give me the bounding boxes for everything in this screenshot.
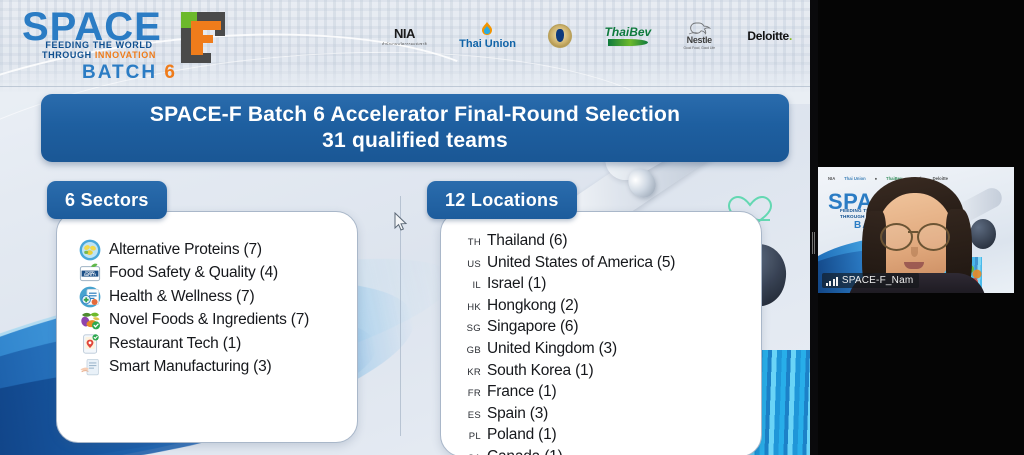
list-item-label: Food Safety & Quality (4) xyxy=(109,264,278,282)
shared-slide: SPACE FEEDING THE WORLD THROUGH INNOVATI… xyxy=(0,0,810,455)
list-item-label: Restaurant Tech (1) xyxy=(109,335,241,353)
tile-robot-gripper-graphic xyxy=(970,219,996,249)
restaurant-tech-icon xyxy=(79,333,101,355)
list-item: Health & Wellness (7) xyxy=(79,285,309,309)
list-item: Novel Foods & Ingredients (7) xyxy=(79,309,309,333)
list-item: GBUnited Kingdom (3) xyxy=(459,340,675,362)
participant-nose xyxy=(911,247,918,257)
list-item: Alternative Proteins (7) xyxy=(79,238,309,262)
sponsor-nestle: Nestle Good Food, Good Life xyxy=(684,22,716,50)
list-item-label: Spain (3) xyxy=(487,405,548,423)
list-item: THThailand (6) xyxy=(459,232,675,254)
list-item-label: France (1) xyxy=(487,383,557,401)
participant-video-tile[interactable]: NIA Thai Union ● ThaiBev Nestle Deloitte… xyxy=(818,167,1014,293)
panel-resize-handle[interactable] xyxy=(812,232,816,254)
list-item-label: Hongkong (2) xyxy=(487,297,579,315)
sponsor-deloitte: Deloitte. xyxy=(747,29,792,43)
sponsor-thai-union: Thai Union xyxy=(459,22,516,50)
thai-union-logo-icon: Thai Union xyxy=(459,38,516,50)
country-code: HK xyxy=(459,302,481,313)
thai-union-mark-icon xyxy=(482,22,493,35)
locations-card: THThailand (6) USUnited States of Americ… xyxy=(440,211,762,455)
svg-text:SAFETY: SAFETY xyxy=(84,273,97,277)
country-code: GB xyxy=(459,345,481,356)
smart-manufacturing-icon xyxy=(79,356,101,378)
nestle-logo-subtext: Good Food, Good Life xyxy=(684,46,716,50)
country-code: IL xyxy=(459,280,481,291)
tagline-line-1: FEEDING THE WORLD xyxy=(42,40,156,50)
list-item: ESSpain (3) xyxy=(459,405,675,427)
list-item: Restaurant Tech (1) xyxy=(79,332,309,356)
list-item-label: South Korea (1) xyxy=(487,362,593,380)
share-panel-edge xyxy=(810,0,818,455)
sponsor-thai-government xyxy=(548,24,572,48)
sectors-list: Alternative Proteins (7) FOOD SAFETY Foo… xyxy=(79,238,309,379)
screen-share-view: SPACE FEEDING THE WORLD THROUGH INNOVATI… xyxy=(0,0,1024,455)
sectors-card: Alternative Proteins (7) FOOD SAFETY Foo… xyxy=(56,211,358,443)
country-code: SG xyxy=(459,323,481,334)
participant-name-label: SPACE-F_Nam xyxy=(842,275,913,286)
list-item: SGSingapore (6) xyxy=(459,318,675,340)
tile-nia-logo-icon: NIA xyxy=(828,176,835,181)
list-item-label: United States of America (5) xyxy=(487,254,675,272)
list-item: FRFrance (1) xyxy=(459,383,675,405)
nestle-bird-icon xyxy=(687,22,711,35)
slide-title-banner: SPACE-F Batch 6 Accelerator Final-Round … xyxy=(41,94,789,162)
nia-logo-subtext: สำนักงานนวัตกรรมแห่งชาติ xyxy=(382,42,427,47)
list-item: Smart Manufacturing (3) xyxy=(79,356,309,380)
list-item: HKHongkong (2) xyxy=(459,297,675,319)
list-item: PLPoland (1) xyxy=(459,426,675,448)
space-f-mark-icon xyxy=(171,9,229,67)
list-item-label: Israel (1) xyxy=(487,275,546,293)
slide-title-line-1: SPACE-F Batch 6 Accelerator Final-Round … xyxy=(150,103,680,127)
list-item: FOOD SAFETY Food Safety & Quality (4) xyxy=(79,262,309,286)
list-item-label: Canada (1) xyxy=(487,448,563,455)
list-item: USUnited States of America (5) xyxy=(459,254,675,276)
list-item: ILIsrael (1) xyxy=(459,275,675,297)
health-wellness-icon xyxy=(79,286,101,308)
header-divider xyxy=(0,86,810,87)
tagline-line-2: THROUGH INNOVATION xyxy=(42,50,156,60)
list-item-label: Smart Manufacturing (3) xyxy=(109,358,272,376)
country-code: US xyxy=(459,259,481,270)
sponsor-thaibev: ThaiBev xyxy=(605,27,652,46)
participant-glasses-bridge xyxy=(908,231,918,233)
locations-list: THThailand (6) USUnited States of Americ… xyxy=(459,232,675,455)
mouse-pointer-icon xyxy=(394,212,408,231)
slide-title-line-2: 31 qualified teams xyxy=(322,129,508,153)
thaibev-swoosh-icon xyxy=(608,39,648,46)
thai-government-seal-icon xyxy=(548,24,572,48)
locations-chip-label: 12 Locations xyxy=(445,190,559,211)
locations-chip: 12 Locations xyxy=(427,181,577,219)
column-divider xyxy=(400,196,401,436)
country-code: ES xyxy=(459,410,481,421)
tile-government-seal-icon: ● xyxy=(875,176,878,181)
participant-name-badge: SPACE-F_Nam xyxy=(822,273,919,288)
sectors-chip: 6 Sectors xyxy=(47,181,167,219)
list-item-label: Poland (1) xyxy=(487,426,557,444)
nestle-logo-icon: Nestle xyxy=(687,35,712,45)
signal-bars-icon xyxy=(826,276,838,286)
logo-tagline: FEEDING THE WORLD THROUGH INNOVATION xyxy=(42,40,156,60)
participant-glasses-right xyxy=(917,223,950,251)
participant-glasses-left xyxy=(880,223,913,251)
deloitte-logo-icon: Deloitte. xyxy=(747,29,792,43)
country-code: PL xyxy=(459,431,481,442)
list-item-label: Thailand (6) xyxy=(487,232,567,250)
list-item-label: United Kingdom (3) xyxy=(487,340,617,358)
batch-label: BATCH 6 xyxy=(82,62,177,84)
novel-foods-icon xyxy=(79,309,101,331)
list-item-label: Alternative Proteins (7) xyxy=(109,241,262,259)
sectors-chip-label: 6 Sectors xyxy=(65,190,149,211)
thaibev-logo-icon: ThaiBev xyxy=(605,27,652,38)
list-item-label: Novel Foods & Ingredients (7) xyxy=(109,311,309,329)
country-code: FR xyxy=(459,388,481,399)
nia-logo-icon: NIA xyxy=(394,26,415,41)
alternative-proteins-icon xyxy=(79,239,101,261)
tile-thai-union-logo-icon: Thai Union xyxy=(844,176,866,181)
list-item: CACanada (1) xyxy=(459,448,675,455)
list-item-label: Singapore (6) xyxy=(487,318,578,336)
sponsor-logo-row: NIA สำนักงานนวัตกรรมแห่งชาติ Thai Union … xyxy=(382,17,792,55)
sponsor-nia: NIA สำนักงานนวัตกรรมแห่งชาติ xyxy=(382,26,427,47)
country-code: TH xyxy=(459,237,481,248)
list-item-label: Health & Wellness (7) xyxy=(109,288,254,306)
country-code: KR xyxy=(459,367,481,378)
food-safety-icon: FOOD SAFETY xyxy=(79,262,101,284)
list-item: KRSouth Korea (1) xyxy=(459,362,675,384)
